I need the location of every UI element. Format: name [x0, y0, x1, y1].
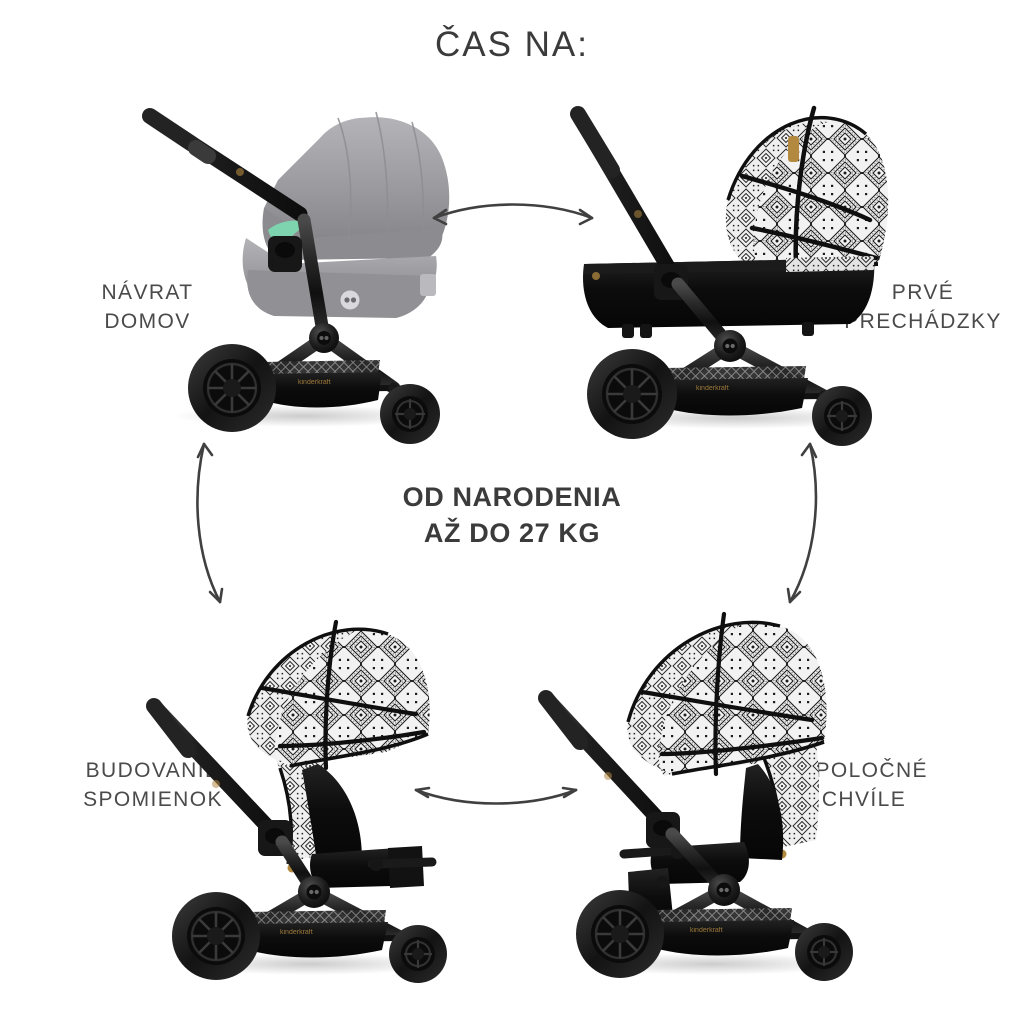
arrow-bottom — [406, 776, 586, 827]
capacity-line-2: AŽ DO 27 KG — [292, 516, 732, 552]
frame-brand-text: kinderkraft — [298, 379, 331, 386]
capacity-line-1: OD NARODENIA — [403, 482, 622, 512]
basket-fabric — [650, 920, 794, 956]
arrow-right-line — [790, 444, 816, 602]
x-joint-hub — [309, 323, 339, 353]
arrow-right-head-top — [802, 444, 816, 457]
handlebar-logo — [634, 210, 642, 218]
arrow-top-line — [434, 205, 592, 219]
arrow-left-head-top — [198, 444, 212, 457]
car-seat-base — [247, 270, 430, 318]
basket-fabric — [660, 378, 808, 416]
arrow-top — [424, 186, 602, 241]
infant-car-seat — [243, 112, 450, 318]
product-car-seat-on-frame: kinderkraft — [128, 88, 458, 428]
rear-wheel — [587, 349, 677, 439]
car-seat-side-clip — [420, 274, 436, 296]
front-wheel — [380, 384, 440, 444]
footrest-joint — [656, 876, 668, 888]
infographic-canvas: ČAS NA: OD NARODENIA AŽ DO 27 KG NÁVRAT … — [0, 0, 1024, 1024]
frame-brand-text: kinderkraft — [690, 927, 723, 934]
brand-logo-car-seat — [341, 291, 360, 310]
front-wheel — [795, 923, 853, 981]
hood-brand-tab — [788, 136, 799, 162]
handlebar-logo — [236, 168, 244, 176]
product-carrycot-on-frame: kinderkraft — [556, 88, 896, 428]
arrow-left — [182, 432, 242, 619]
handlebar-logo — [212, 780, 220, 788]
rear-wheel — [576, 890, 664, 978]
frame-brand-text: kinderkraft — [280, 929, 313, 936]
handlebar-logo — [604, 772, 612, 780]
arrow-left-line — [197, 444, 220, 602]
arrow-right — [772, 432, 832, 619]
bumper-bar-joint — [369, 857, 383, 871]
carrycot-logo — [592, 272, 600, 280]
basket-fabric — [258, 372, 382, 408]
x-joint-hub — [714, 330, 746, 362]
arrow-bottom-line — [416, 790, 576, 804]
carrycot-foot-right — [802, 322, 814, 336]
x-joint-hub — [298, 876, 330, 908]
carrycot-body — [583, 256, 874, 338]
frame-brand-text: kinderkraft — [696, 385, 729, 392]
carrycot-foot-left-2 — [640, 324, 652, 338]
x-joint-hub — [708, 874, 740, 906]
page-title: ČAS NA: — [0, 26, 1024, 65]
capacity-callout: OD NARODENIA AŽ DO 27 KG — [292, 480, 732, 551]
rear-wheel — [172, 892, 260, 980]
basket-fabric — [244, 922, 388, 958]
label-tr-line-1: PRVÉ — [892, 281, 954, 304]
carrycot-hood — [726, 108, 888, 270]
carrycot-apron-print — [786, 256, 874, 272]
rear-wheel — [188, 344, 276, 432]
handlebar — [150, 116, 300, 214]
front-wheel — [389, 925, 447, 983]
carrycot-foot-left — [622, 324, 634, 338]
